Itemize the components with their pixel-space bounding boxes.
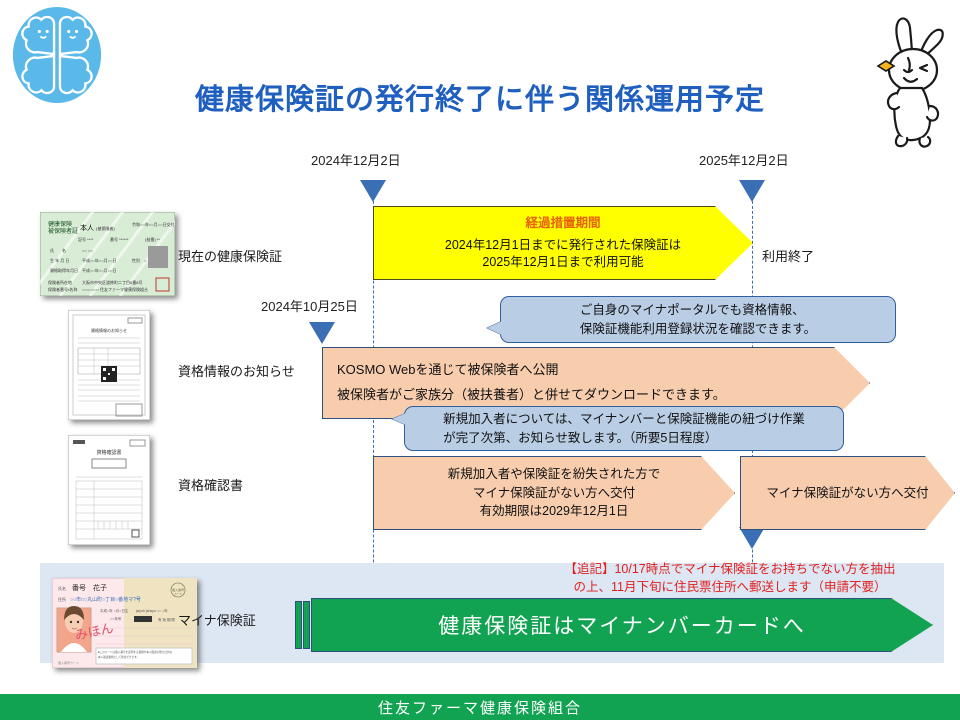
svg-text:有 効 期 限: 有 効 期 限 <box>158 617 175 622</box>
callout-myna-portal-info: ご自身のマイナポータルでも資格情報、 保険証機能利用登録状況を確認できます。 <box>500 296 896 343</box>
svg-text:保険者所在地: 保険者所在地 <box>48 279 72 285</box>
svg-text:(被保険者): (被保険者) <box>96 225 115 231</box>
down-triangle-marker-2024-10-25 <box>309 322 335 344</box>
svg-text:本人確認書類として利用できます。: 本人確認書類として利用できます。 <box>98 655 139 659</box>
callout-line-1: 新規加入者については、マイナンバーと保険証機能の紐づけ作業 <box>443 412 805 426</box>
arrow-line-1: 新規加入者や保険証を紛失された方で <box>448 467 661 481</box>
svg-text:大阪市中央区道修町二丁目6番8号: 大阪市中央区道修町二丁目6番8号 <box>82 279 142 285</box>
callout-tail-icon <box>487 321 502 335</box>
infographic-canvas: 健康保険証の発行終了に伴う関係運用予定 2024年12月2日 2025年12月2… <box>0 0 960 720</box>
my-number-card-image: 氏名 番号 花子 住所 ○○市□○丸山町○丁目○番地マ?号 平成○年 ○月○日生… <box>52 578 197 668</box>
svg-text:○○ ○○: ○○ ○○ <box>82 248 93 253</box>
arrow-certificate-issuance: 新規加入者や保険証を紛失された方で マイナ保険証がない方へ交付 有効期限は202… <box>373 456 735 530</box>
svg-text:番号 ******: 番号 ****** <box>110 236 129 242</box>
svg-text:記号 ****: 記号 **** <box>78 236 94 242</box>
footer-organization-name: 住友ファーマ健康保険組合 <box>378 697 582 718</box>
svg-text:住所: 住所 <box>58 596 66 602</box>
callout-line-2: 保険証機能利用登録状況を確認できます。 <box>580 322 816 336</box>
down-triangle-marker-2024-12-02 <box>360 180 386 202</box>
callout-tail-icon <box>392 413 406 425</box>
arrow-line-3: 有効期限は2029年12月1日 <box>480 504 629 518</box>
svg-text:被保険者証: 被保険者証 <box>48 227 78 235</box>
svg-text:個人番号カード: 個人番号カード <box>58 660 79 665</box>
arrow-line-1: 2024年12月1日までに発行された保険証は <box>445 238 681 252</box>
annotation-mailing-notice: 【追記】10/17時点でマイナ保険証をお持ちでない方を抽出 の上、11月下旬に住… <box>520 560 940 596</box>
svg-text:生 年 月 日: 生 年 月 日 <box>50 257 69 263</box>
arrow-green-label: 健康保険証はマイナンバーカードへ <box>438 610 806 640</box>
certificate-form-image: 資格確認書 <box>68 435 150 545</box>
row-label-qualification-certificate: 資格確認書 <box>178 475 243 494</box>
callout-line-1: ご自身のマイナポータルでも資格情報、 <box>580 303 805 317</box>
timeline-date-2025-12-02: 2025年12月2日 <box>699 150 789 169</box>
down-triangle-marker-2025-12-02 <box>739 180 765 202</box>
svg-text:番号 花子: 番号 花子 <box>72 583 107 592</box>
svg-text:jsiyoh jshsyo ○○ ○年: jsiyoh jshsyo ○○ ○年 <box>135 608 168 613</box>
green-insurance-card-image: 健康保険 被保険者証 本人 (被保険者) 令和○○年○○月○○日交付 記号 **… <box>40 212 175 296</box>
svg-text:本人: 本人 <box>80 223 94 232</box>
annotation-line-1: 【追記】10/17時点でマイナ保険証をお持ちでない方を抽出 <box>564 562 895 576</box>
green-accent-stripe-1 <box>295 601 302 649</box>
rabbit-mascot-icon <box>868 8 956 148</box>
arrow-line-1: KOSMO Webを通じて被保険者へ公開 <box>337 362 559 377</box>
svg-text:カード: カード <box>174 592 182 596</box>
row-label-my-number-insurance-card: マイナ保険証 <box>178 610 256 629</box>
footer-bar: 住友ファーマ健康保険組合 <box>0 694 960 720</box>
svg-text:資格確認書: 資格確認書 <box>96 449 121 456</box>
arrow-line-1: マイナ保険証がない方へ交付 <box>766 485 928 502</box>
timeline-date-2024-12-02: 2024年12月2日 <box>311 150 401 169</box>
svg-text:保険者番号・名称: 保険者番号・名称 <box>48 286 77 292</box>
svg-text:平成○○年○○月○○日: 平成○○年○○月○○日 <box>82 267 117 273</box>
arrow-line-2: マイナ保険証がない方へ交付 <box>473 486 635 500</box>
svg-text:○○年号: ○○年号 <box>110 616 122 621</box>
annotation-line-2: の上、11月下旬に住民票住所へ郵送します（申請不要） <box>574 580 887 594</box>
svg-text:資格取得年月日: 資格取得年月日 <box>50 267 78 273</box>
svg-text:健康保険: 健康保険 <box>48 220 72 228</box>
arrow-transition-period: 経過措置期間 2024年12月1日までに発行された保険証は 2025年12月1日… <box>373 206 753 280</box>
svg-text:性別 ○: 性別 ○ <box>132 257 147 263</box>
arrow-heading-transition-period: 経過措置期間 <box>525 215 600 232</box>
svg-text:■このカードは個人番号を証明する書類や本人確認の際の公的な: ■このカードは個人番号を証明する書類や本人確認の際の公的な <box>98 650 173 654</box>
down-triangle-marker-cert-handover <box>739 527 765 549</box>
arrow-line-2: 被保険者がご家族分（被扶養者）と併せてダウンロードできます。 <box>337 387 726 402</box>
svg-text:○○○○○○○ 住友ファーマ健康保険組合: ○○○○○○○ 住友ファーマ健康保険組合 <box>82 286 148 292</box>
svg-text:○○市□○丸山町○丁目○番地マ?号: ○○市□○丸山町○丁目○番地マ?号 <box>70 596 141 603</box>
svg-text:個人番号: 個人番号 <box>172 587 184 592</box>
callout-line-2: が完了次第、お知らせ致します。（所要5日程度） <box>443 431 717 445</box>
svg-text:令和○○年○○月○○日交付: 令和○○年○○月○○日交付 <box>132 221 175 227</box>
arrow-line-2: 2025年12月1日まで利用可能 <box>482 255 643 269</box>
green-accent-stripe-2 <box>303 601 310 649</box>
row-label-current-insurance-card: 現在の健康保険証 <box>178 246 282 265</box>
svg-text:(枝番) **: (枝番) ** <box>145 236 160 242</box>
svg-text:平成○年 ○月○日生: 平成○年 ○月○日生 <box>100 608 129 613</box>
timeline-date-2024-10-25: 2024年10月25日 <box>261 296 358 315</box>
svg-text:氏 名: 氏 名 <box>50 247 66 253</box>
notification-document-image: 資格情報のお知らせ <box>68 310 150 420</box>
svg-text:平成○○年○○月○○日: 平成○○年○○月○○日 <box>82 257 117 263</box>
callout-new-member-linkage: 新規加入者については、マイナンバーと保険証機能の紐づけ作業 が完了次第、お知らせ… <box>404 406 844 451</box>
svg-text:氏名: 氏名 <box>58 585 66 591</box>
row-label-qualification-notice: 資格情報のお知らせ <box>178 361 295 380</box>
clover-heart-logo-icon <box>8 6 106 104</box>
page-title: 健康保険証の発行終了に伴う関係運用予定 <box>120 76 840 118</box>
arrow-certificate-issuance-after: マイナ保険証がない方へ交付 <box>740 456 955 530</box>
note-usage-end: 利用終了 <box>762 246 814 265</box>
svg-text:資格情報のお知らせ: 資格情報のお知らせ <box>91 327 127 333</box>
arrow-my-number-transition: 健康保険証はマイナンバーカードへ <box>311 598 933 652</box>
